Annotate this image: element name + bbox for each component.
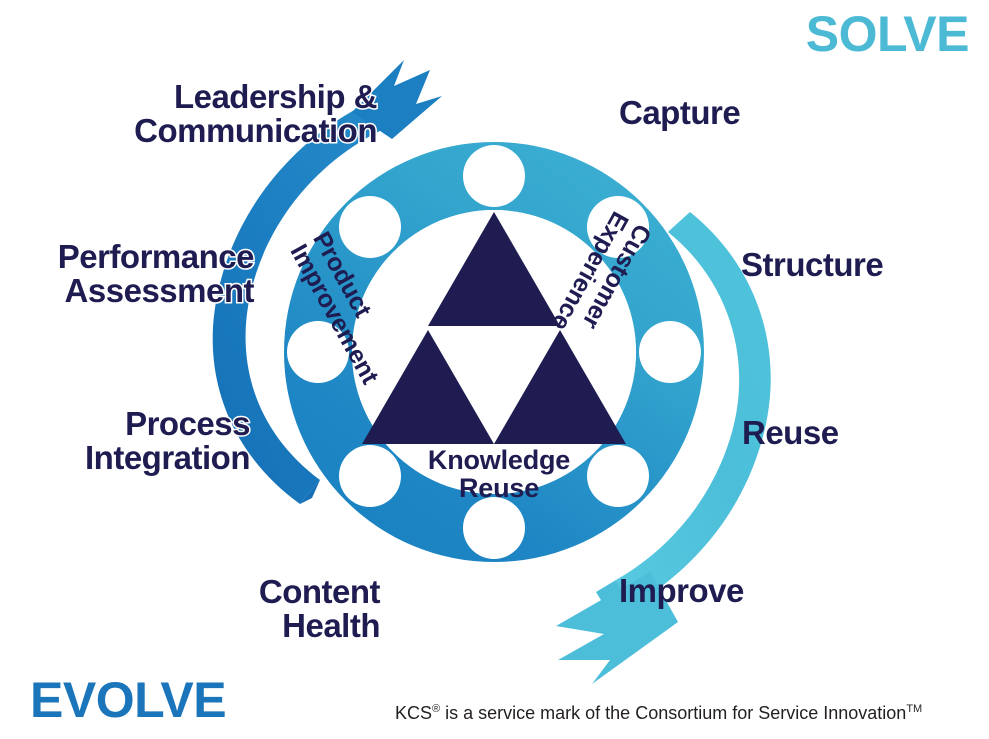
registered-mark-icon: ®: [432, 703, 440, 715]
evolve-title: EVOLVE: [30, 675, 226, 725]
footnote-kcs: KCS: [395, 703, 432, 723]
evolve-step-process-integration[interactable]: Process Integration: [85, 407, 250, 474]
solve-step-structure[interactable]: Structure: [741, 248, 883, 282]
solve-step-capture[interactable]: Capture: [619, 96, 740, 130]
solve-step-reuse[interactable]: Reuse: [742, 416, 839, 450]
solve-step-improve[interactable]: Improve: [619, 574, 744, 608]
trademark-icon: TM: [906, 703, 922, 715]
solve-title: SOLVE: [806, 9, 969, 59]
evolve-step-performance-assessment[interactable]: Performance Assessment: [58, 240, 254, 307]
center-label-knowledge-reuse: Knowledge Reuse: [419, 447, 579, 502]
evolve-step-content-health[interactable]: Content Health: [259, 575, 380, 642]
evolve-step-leadership-communication[interactable]: Leadership & Communication: [134, 80, 377, 147]
footnote-body: is a service mark of the Consortium for …: [440, 703, 906, 723]
service-mark-footnote: KCS® is a service mark of the Consortium…: [395, 703, 922, 724]
kcs-diagram-canvas: SOLVE EVOLVE Leadership & Communication …: [0, 0, 989, 739]
